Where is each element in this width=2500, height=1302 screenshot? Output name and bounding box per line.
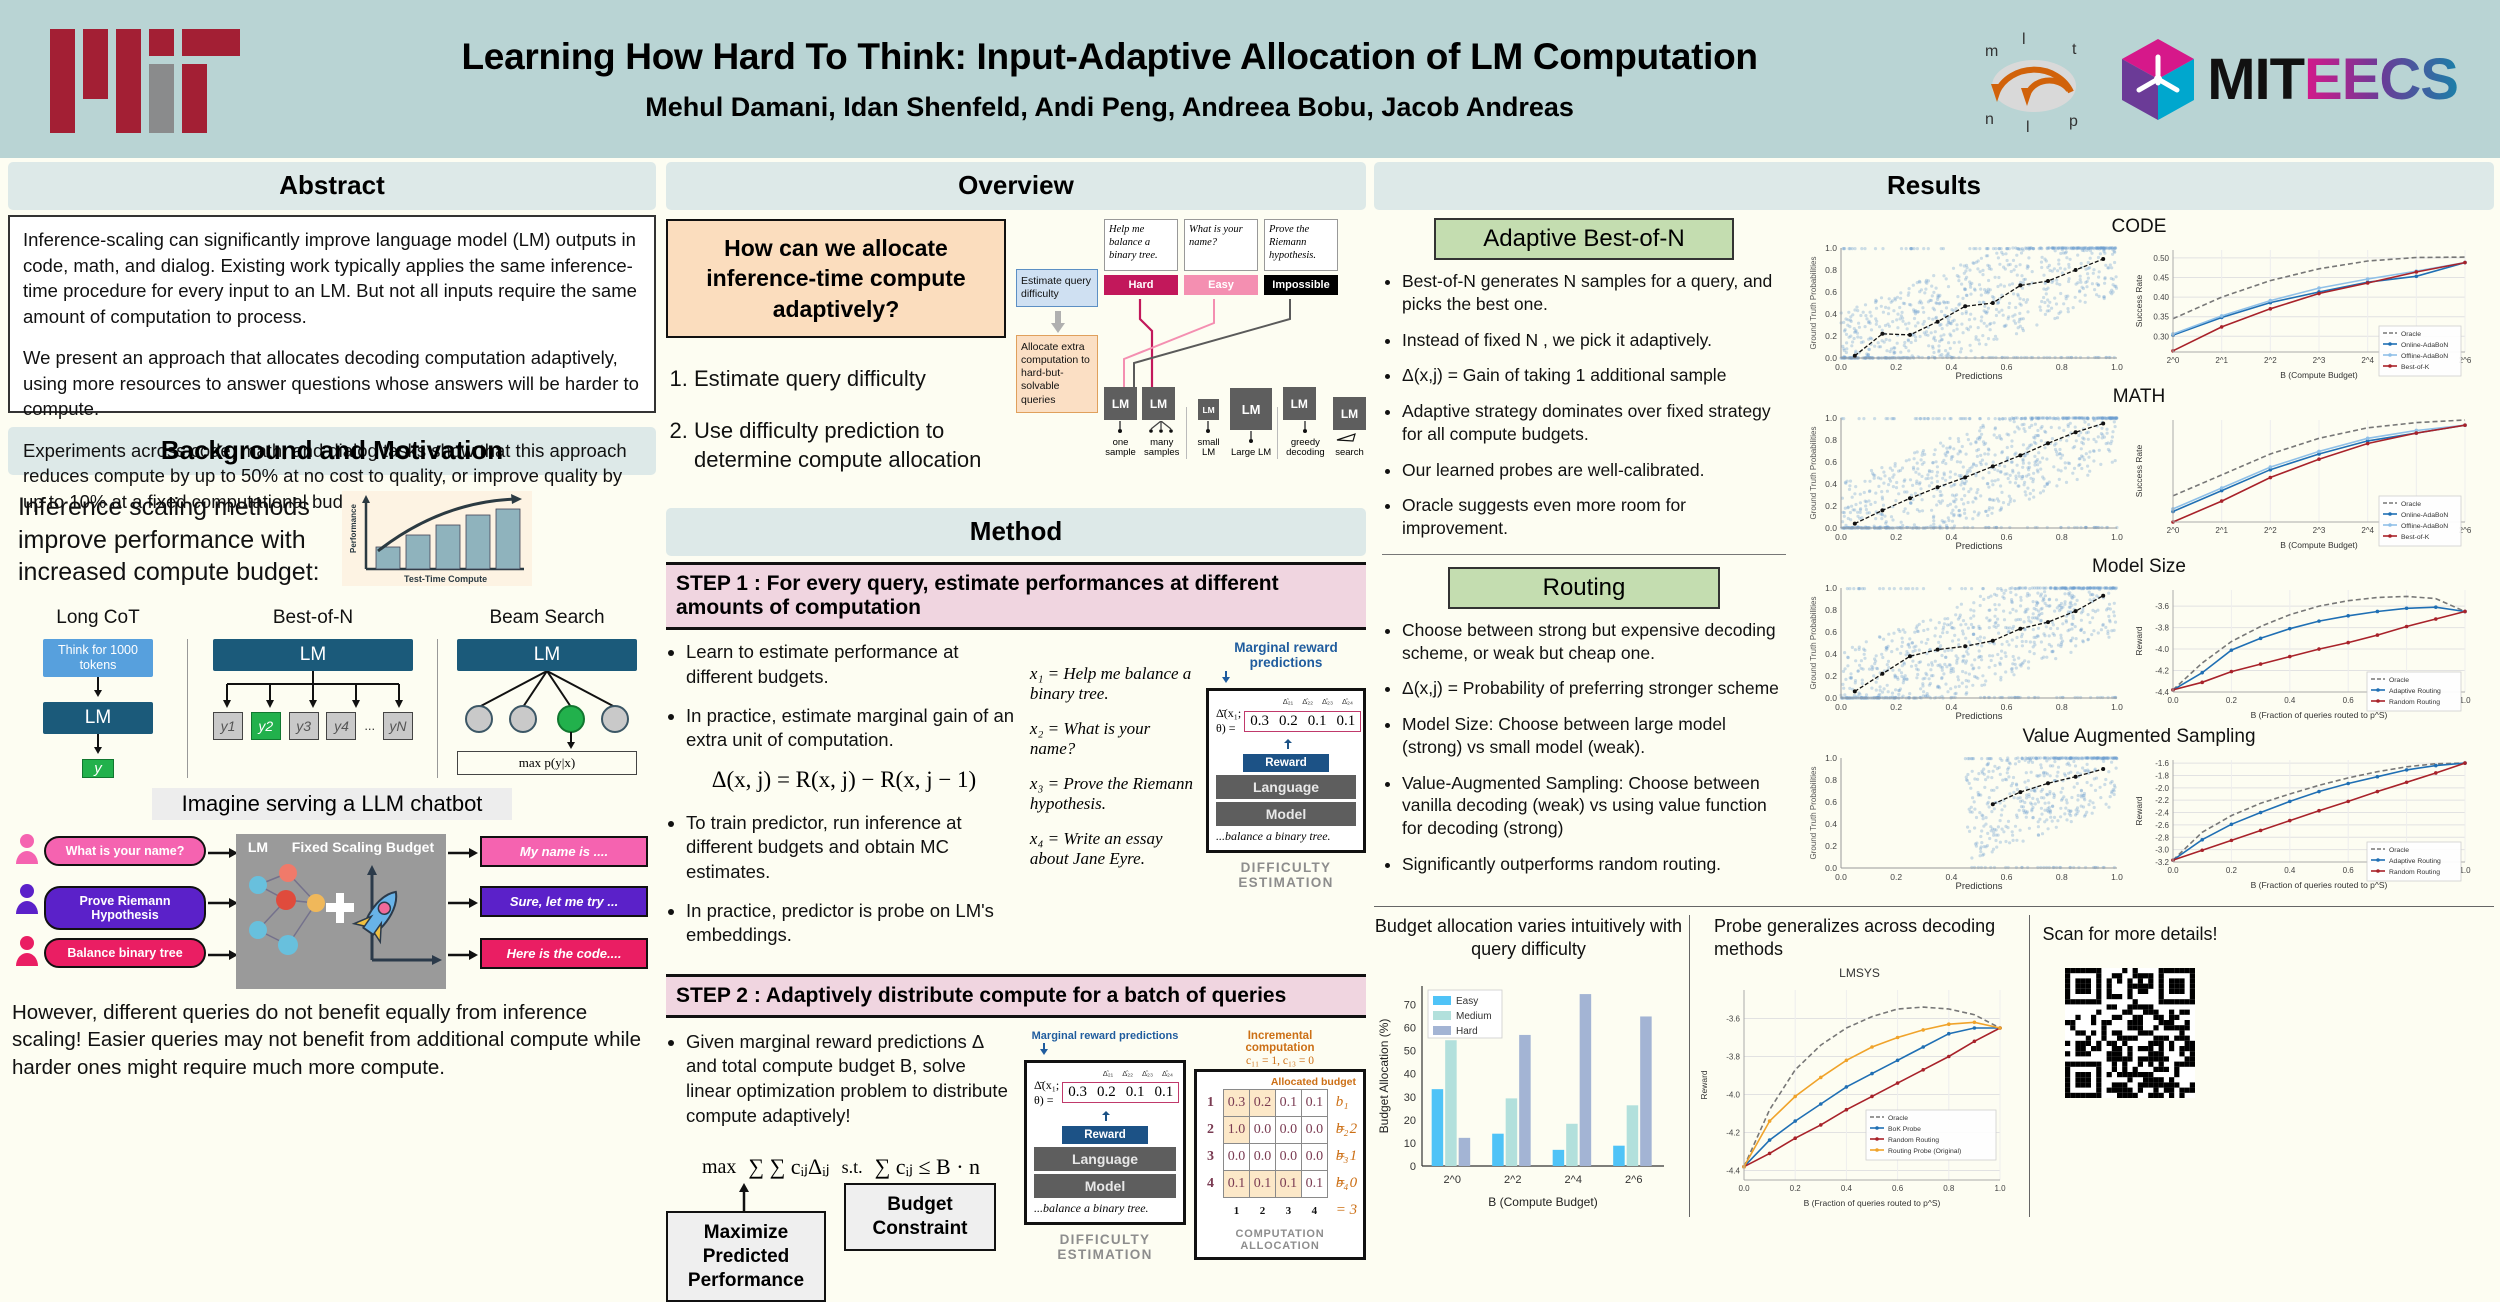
svg-text:0.6: 0.6: [1825, 287, 1837, 297]
svg-text:1.0: 1.0: [2111, 872, 2123, 882]
svg-text:B (Compute Budget): B (Compute Budget): [2280, 540, 2358, 550]
diagram-lm-row: LM one sample LM many samples LM small L…: [1104, 387, 1366, 459]
lmsys-chart-title: LMSYS: [1696, 966, 2023, 980]
calibration-scatter: 0.00.00.20.20.40.40.60.60.80.81.01.0Pred…: [1807, 410, 2125, 552]
adaptive-bullet-3: Δ(x,j) = Gain of taking 1 additional sam…: [1402, 364, 1786, 387]
alloc-row-label-4: 4: [1202, 1170, 1224, 1197]
svg-text:-2.4: -2.4: [2155, 809, 2169, 818]
svg-text:Random Routing: Random Routing: [2389, 869, 2440, 876]
svg-text:0.6: 0.6: [1825, 627, 1837, 637]
svg-text:0.6: 0.6: [1825, 457, 1837, 467]
diagram-routing-lines: [1104, 297, 1344, 389]
step2-optimization-formula: max ∑ ∑ cᵢⱼΔᵢⱼ s.t. ∑ cᵢⱼ ≤ B · n: [666, 1154, 1016, 1180]
svg-text:2^2: 2^2: [1504, 1174, 1521, 1186]
computation-allocation-panel: Incremental computation c₁₁ = 1, c₁₃ = 0…: [1194, 1030, 1366, 1302]
svg-text:20: 20: [1404, 1115, 1416, 1127]
svg-text:0.8: 0.8: [2056, 362, 2068, 372]
svg-text:0.0: 0.0: [1835, 702, 1847, 712]
svg-text:Predictions: Predictions: [1956, 711, 2003, 722]
svg-text:-4.4: -4.4: [1726, 1167, 1740, 1176]
diagram-query-3: Prove the Riemann hypothesis.: [1264, 219, 1338, 271]
lm-box-beam-search: LM: [457, 639, 637, 671]
lm-box-best-of-n: LM: [213, 639, 413, 671]
performance-line-chart: -1.6-1.8-2.0-2.2-2.4-2.6-2.8-3.0-3.20.00…: [2131, 750, 2471, 892]
s2-delta-hdr-24: Δ̂₂₄: [1162, 1069, 1173, 1078]
table-row: 2 1.0 0.0 0.0 0.0: [1202, 1116, 1327, 1143]
svg-text:0.2: 0.2: [1790, 1184, 1802, 1193]
bon-leaf-2-selected: y2: [251, 712, 281, 740]
svg-text:Reward: Reward: [1699, 1070, 1709, 1100]
svg-text:0.8: 0.8: [1825, 435, 1837, 445]
diagram-option-large-lm: Large LM: [1230, 448, 1272, 458]
delta-val-4: 0.1: [1331, 712, 1360, 731]
s2-delta-lhs: Δ̄(x₁; θ) =: [1034, 1078, 1059, 1108]
svg-text:l: l: [2026, 119, 2030, 134]
scaling-figure: Performance Test-Time Compute: [342, 491, 532, 586]
alloc-col-label-4: 4: [1301, 1197, 1327, 1224]
mit-eecs-logo: MITEECS: [2119, 37, 2458, 122]
diagram-difficulty-impossible: Impossible: [1264, 275, 1338, 295]
method-label-best-of-n: Best-of-N: [188, 607, 438, 629]
svg-text:-3.6: -3.6: [2155, 602, 2169, 611]
performance-line-chart: 2^02^12^22^32^42^52^6B (Compute Budget)S…: [2131, 410, 2471, 552]
svg-text:1.0: 1.0: [2111, 702, 2123, 712]
table-row: 4 0.1 0.1 0.1 0.1: [1202, 1170, 1327, 1197]
svg-text:Ground Truth Probabilities: Ground Truth Probabilities: [1809, 597, 1818, 690]
alloc-cell-3-1: 0.0: [1224, 1143, 1250, 1170]
svg-text:0.35: 0.35: [2153, 313, 2169, 322]
eecs-cube-icon: [2119, 37, 2197, 122]
svg-text:0.40: 0.40: [2153, 293, 2169, 302]
svg-text:0.8: 0.8: [1943, 1184, 1955, 1193]
svg-text:m: m: [1985, 43, 1998, 60]
svg-text:2^2: 2^2: [2264, 526, 2277, 535]
alloc-cell-1-3: 0.1: [1275, 1089, 1301, 1116]
table-row: 1 2 3 4: [1202, 1197, 1327, 1224]
diagram-lm-search: LM: [1333, 397, 1366, 430]
diagram-lm-many-samples: LM: [1142, 387, 1175, 420]
svg-text:B (Compute Budget): B (Compute Budget): [1488, 1195, 1597, 1209]
svg-text:Performance: Performance: [349, 504, 358, 553]
alloc-cell-1-1: 0.3: [1224, 1089, 1250, 1116]
delta-val-3: 0.1: [1303, 712, 1332, 731]
alloc-row-label-1: 1: [1202, 1089, 1224, 1116]
svg-text:p: p: [2069, 113, 2078, 130]
chat-budget-label: Fixed Scaling Budget: [292, 839, 434, 855]
callout-maximize: Maximize Predicted Performance: [666, 1211, 826, 1302]
svg-text:-4.2: -4.2: [1726, 1129, 1740, 1138]
svg-text:0.2: 0.2: [2226, 696, 2238, 705]
delta-val-2: 0.2: [1274, 712, 1303, 731]
bon-leaf-4: y4: [326, 712, 356, 740]
formula-constraint: ∑ cᵢⱼ ≤ B · n: [875, 1154, 980, 1180]
method-beam-search: Beam Search LM max p(y|x): [438, 607, 656, 778]
formula-objective: ∑ ∑ cᵢⱼΔᵢⱼ: [748, 1154, 829, 1180]
svg-text:0.6: 0.6: [2343, 696, 2355, 705]
svg-text:l: l: [2022, 31, 2026, 48]
alloc-title-3: c₁₁ = 1, c₁₃ = 0: [1194, 1055, 1366, 1067]
diagram-query-2: What is your name?: [1184, 219, 1258, 271]
step2-bullets: Given marginal reward predictions Δ and …: [666, 1030, 1016, 1128]
diagram-option-greedy: greedy decoding: [1283, 438, 1328, 459]
svg-text:Online-AdaBoN: Online-AdaBoN: [2401, 342, 2448, 349]
svg-text:0.8: 0.8: [1825, 605, 1837, 615]
svg-text:-3.6: -3.6: [1726, 1015, 1740, 1024]
chart-group-value-augmented-sampling: Value Augmented Sampling0.00.00.20.20.40…: [1794, 726, 2484, 892]
svg-text:0.2: 0.2: [1825, 671, 1837, 681]
calibration-scatter: 0.00.00.20.20.40.40.60.60.80.81.01.0Pred…: [1807, 240, 2125, 382]
alloc-cell-4-4: 0.1: [1301, 1170, 1327, 1197]
svg-text:0.0: 0.0: [1835, 532, 1847, 542]
lm-box-long-cot: LM: [43, 702, 153, 734]
svg-text:1.0: 1.0: [1825, 753, 1837, 763]
svg-text:Oracle: Oracle: [2401, 501, 2421, 508]
bon-leaf-3: y3: [289, 712, 319, 740]
performance-line-chart: 0.300.350.400.450.502^02^12^22^32^42^52^…: [2131, 240, 2471, 382]
chat-network-rocket-icon: [236, 855, 446, 980]
title-block: Learning How Hard To Think: Input-Adapti…: [250, 36, 1969, 123]
user-avatar-2: [16, 884, 38, 914]
svg-text:0.2: 0.2: [1890, 872, 1902, 882]
diagram-side-box-estimate: Estimate query difficulty: [1016, 269, 1098, 307]
s2-delta-val-1: 0.3: [1063, 1083, 1092, 1102]
table-row: 3 0.0 0.0 0.0 0.0: [1202, 1143, 1327, 1170]
svg-text:2^0: 2^0: [1444, 1174, 1461, 1186]
abstract-paragraph-2: We present an approach that allocates de…: [23, 345, 641, 422]
svg-text:Predictions: Predictions: [1956, 541, 2003, 552]
step1-bullet-4: In practice, predictor is probe on LM's …: [686, 899, 1022, 948]
svg-text:Routing Probe (Original): Routing Probe (Original): [1888, 1148, 1961, 1155]
eecs-suffix-text: EECS: [2304, 47, 2458, 112]
delta-hdr-24: Δ̂₂₄: [1342, 697, 1353, 706]
step2-mrp-title: Marginal reward predictions: [1024, 1030, 1186, 1042]
improbable-ai-logo: m l t n l p: [1969, 24, 2099, 134]
svg-text:0.8: 0.8: [2056, 532, 2068, 542]
svg-text:2^2: 2^2: [2264, 356, 2277, 365]
diagram-difficulty-hard: Hard: [1104, 275, 1178, 295]
user-avatar-3: [16, 936, 38, 966]
svg-text:70: 70: [1404, 999, 1416, 1011]
svg-text:0.0: 0.0: [1825, 693, 1837, 703]
svg-text:Offline-AdaBoN: Offline-AdaBoN: [2401, 353, 2448, 360]
alloc-cell-2-2: 0.0: [1250, 1116, 1276, 1143]
svg-text:0.6: 0.6: [1892, 1184, 1904, 1193]
diagram-option-one-sample: one sample: [1104, 438, 1137, 459]
routing-bullet-2: Δ(x,j) = Probability of preferring stron…: [1402, 677, 1786, 700]
svg-text:-3.0: -3.0: [2155, 846, 2169, 855]
svg-text:2^1: 2^1: [2215, 356, 2228, 365]
svg-text:0.0: 0.0: [1825, 353, 1837, 363]
svg-text:0.4: 0.4: [1825, 309, 1837, 319]
svg-text:BoK Probe: BoK Probe: [1888, 1126, 1921, 1133]
svg-text:0.6: 0.6: [1825, 797, 1837, 807]
svg-text:0.8: 0.8: [1825, 265, 1837, 275]
svg-text:Budget Allocation (%): Budget Allocation (%): [1377, 1019, 1391, 1134]
s2-reward-bar: Reward: [1062, 1126, 1148, 1144]
svg-text:0: 0: [1410, 1161, 1416, 1173]
delta-hdr-21: Δ̂₂₁: [1283, 697, 1293, 706]
diagram-lm-one-sample: LM: [1104, 387, 1137, 420]
method-best-of-n: Best-of-N LM: [188, 607, 438, 778]
author-list: Mehul Damani, Idan Shenfeld, Andi Peng, …: [270, 92, 1949, 123]
alloc-cell-1-4: 0.1: [1301, 1089, 1327, 1116]
s2-delta-val-4: 0.1: [1149, 1083, 1178, 1102]
eecs-mit-text: MIT: [2207, 47, 2304, 112]
svg-text:B (Fraction of queries routed: B (Fraction of queries routed to p^S): [1804, 1198, 1941, 1208]
step1-delta-headers: Δ̂₂₁ Δ̂₂₂ Δ̂₂₃ Δ̂₂₄: [1216, 697, 1356, 706]
closing-text: However, different queries do not benefi…: [8, 999, 656, 1082]
overview-step-2: Use difficulty prediction to determine c…: [694, 416, 1006, 475]
alloc-budget-title-1: Allocated: [1271, 1076, 1318, 1088]
s2-model-bar: Model: [1034, 1174, 1176, 1198]
svg-text:0.4: 0.4: [2284, 696, 2296, 705]
method-long-cot: Long CoT Think for 1000 tokens LM y: [8, 607, 188, 778]
inference-methods-row: Long CoT Think for 1000 tokens LM y Best…: [8, 607, 656, 778]
svg-text:2^1: 2^1: [2215, 526, 2228, 535]
svg-text:-4.2: -4.2: [2155, 667, 2169, 676]
chat-lm-block: LM Fixed Scaling Budget: [236, 834, 446, 989]
step1-reward-bar: Reward: [1243, 754, 1329, 772]
svg-text:n: n: [1985, 111, 1994, 128]
output-y-long-cot: y: [82, 759, 114, 778]
svg-text:-2.2: -2.2: [2155, 796, 2169, 805]
s2-query-text: ...balance a binary tree.: [1034, 1201, 1176, 1216]
alloc-col-label-1: 1: [1224, 1197, 1250, 1224]
column-left: Abstract Inference-scaling can significa…: [8, 162, 656, 1082]
delta-val-1: 0.3: [1245, 712, 1274, 731]
svg-text:0.8: 0.8: [2056, 872, 2068, 882]
abstract-panel: Inference-scaling can significantly impr…: [8, 215, 656, 413]
svg-text:-2.0: -2.0: [2155, 784, 2169, 793]
table-row: 1 0.3 0.2 0.1 0.1: [1202, 1089, 1327, 1116]
diagram-lm-greedy: LM: [1283, 387, 1316, 420]
svg-text:B (Fraction of queries routed: B (Fraction of queries routed to p^S): [2251, 710, 2388, 720]
scan-title: Scan for more details!: [2030, 923, 2230, 946]
svg-text:30: 30: [1404, 1092, 1416, 1104]
svg-text:2^3: 2^3: [2313, 356, 2326, 365]
alloc-cell-2-1: 1.0: [1224, 1116, 1250, 1143]
results-text-side: Adaptive Best-of-N Best-of-N generates N…: [1374, 216, 1794, 896]
diagram-lm-large: LM: [1230, 388, 1272, 430]
svg-text:0.4: 0.4: [1825, 479, 1837, 489]
svg-text:Oracle: Oracle: [2389, 677, 2409, 684]
svg-text:Success Rate: Success Rate: [2134, 275, 2144, 328]
svg-text:1.0: 1.0: [1825, 243, 1837, 253]
formula-max: max: [702, 1156, 736, 1179]
alloc-title-1: Incremental: [1194, 1030, 1366, 1043]
step1-query-x3: x₃ = Prove the Riemann hypothesis.: [1030, 774, 1198, 814]
s2-delta-val-3: 0.1: [1121, 1083, 1150, 1102]
alloc-cell-3-4: 0.0: [1301, 1143, 1327, 1170]
svg-text:2^3: 2^3: [2313, 526, 2326, 535]
svg-text:Random Routing: Random Routing: [1888, 1137, 1939, 1144]
step1-delta-lhs: Δ̄(x₁; θ) =: [1216, 706, 1241, 736]
poster-header: Learning How Hard To Think: Input-Adapti…: [0, 0, 2500, 158]
alloc-budget-title-2: budget: [1321, 1076, 1356, 1088]
svg-text:-1.8: -1.8: [2155, 771, 2169, 780]
chat-response-3: Here is the code....: [480, 938, 648, 969]
chat-response-2: Sure, let me try ...: [480, 886, 648, 917]
step2-de-panel: Δ̂₂₁ Δ̂₂₂ Δ̂₂₃ Δ̂₂₄ Δ̄(x₁; θ) = 0.3 0.2 …: [1024, 1060, 1186, 1225]
marginal-gain-equation: Δ(x, j) = R(x, j) − R(x, j − 1): [666, 767, 1022, 793]
svg-text:Oracle: Oracle: [2401, 331, 2421, 338]
alloc-title-2: computation: [1194, 1042, 1366, 1055]
overview-steps-list: Estimate query difficulty Use difficulty…: [666, 364, 1006, 474]
svg-text:2^6: 2^6: [1625, 1174, 1642, 1186]
performance-line-chart: -3.6-3.8-4.0-4.2-4.40.00.20.40.60.81.0B …: [2131, 580, 2471, 722]
svg-text:Reward: Reward: [2134, 626, 2144, 656]
step1-query-text: ...balance a binary tree.: [1216, 829, 1356, 844]
chat-lm-label: LM: [248, 839, 268, 855]
svg-text:Random Routing: Random Routing: [2389, 699, 2440, 706]
s2-delta-hdr-22: Δ̂₂₂: [1122, 1069, 1133, 1078]
svg-text:2^0: 2^0: [2167, 526, 2180, 535]
svg-text:0.30: 0.30: [2153, 332, 2169, 341]
overview-heading: Overview: [666, 162, 1366, 210]
svg-text:0.50: 0.50: [2153, 254, 2169, 263]
alloc-col-label-2: 2: [1250, 1197, 1276, 1224]
research-question-box: How can we allocate inference-time compu…: [666, 219, 1006, 338]
diagram-lm-small: LM: [1198, 399, 1219, 420]
svg-text:0.0: 0.0: [1825, 523, 1837, 533]
step1-bullets: Learn to estimate performance at differe…: [666, 640, 1022, 752]
background-intro-text: Inference scaling methods improve perfor…: [18, 491, 328, 589]
delta-hdr-23: Δ̂₂₃: [1322, 697, 1333, 706]
svg-text:0.0: 0.0: [1738, 1184, 1750, 1193]
diagram-query-1: Help me balance a binary tree.: [1104, 219, 1178, 271]
overview-step-1: Estimate query difficulty: [694, 364, 1006, 393]
alloc-row-label-3: 3: [1202, 1143, 1224, 1170]
alloc-cell-4-1: 0.1: [1224, 1170, 1250, 1197]
svg-text:1.0: 1.0: [2111, 532, 2123, 542]
svg-text:-4.0: -4.0: [2155, 645, 2169, 654]
svg-text:60: 60: [1404, 1023, 1416, 1035]
s2-delta-val-2: 0.2: [1092, 1083, 1121, 1102]
svg-text:40: 40: [1404, 1069, 1416, 1081]
alloc-cell-4-2: 0.1: [1250, 1170, 1276, 1197]
method-heading: Method: [666, 508, 1366, 556]
step2-difficulty-estimation: Marginal reward predictions Δ̂₂₁ Δ̂₂₂ Δ̂…: [1024, 1030, 1186, 1302]
routing-bullet-5: Significantly outperforms random routing…: [1402, 853, 1786, 876]
svg-text:Predictions: Predictions: [1956, 881, 2003, 892]
budget-allocation-title: Budget allocation varies intuitively wit…: [1374, 915, 1683, 960]
calibration-scatter: 0.00.00.20.20.40.40.60.60.80.81.01.0Pred…: [1807, 750, 2125, 892]
svg-text:Reward: Reward: [2134, 796, 2144, 826]
alloc-cell-3-2: 0.0: [1250, 1143, 1276, 1170]
svg-text:B (Compute Budget): B (Compute Budget): [2280, 370, 2358, 380]
results-heading: Results: [1374, 162, 2494, 210]
chart-title: MATH: [1794, 386, 2484, 408]
svg-text:50: 50: [1404, 1046, 1416, 1058]
svg-text:Ground Truth Probabilities: Ground Truth Probabilities: [1809, 427, 1818, 520]
think-tokens-box: Think for 1000 tokens: [43, 639, 153, 677]
alloc-cell-1-2: 0.2: [1250, 1089, 1276, 1116]
bon-ellipsis: ...: [364, 718, 375, 733]
s2-delta-values: 0.3 0.2 0.1 0.1: [1062, 1082, 1179, 1103]
alloc-cell-2-4: 0.0: [1301, 1116, 1327, 1143]
qr-code[interactable]: [2065, 968, 2195, 1098]
svg-text:0.2: 0.2: [2226, 866, 2238, 875]
alloc-cell-2-3: 0.0: [1275, 1116, 1301, 1143]
calibration-scatter: 0.00.00.20.20.40.40.60.60.80.81.01.0Pred…: [1807, 580, 2125, 722]
beam-formula: max p(y|x): [457, 751, 637, 775]
routing-bullet-3: Model Size: Choose between large model (…: [1402, 713, 1786, 759]
step2-banner: STEP 2 : Adaptively distribute compute f…: [666, 974, 1366, 1018]
chatbot-heading: Imagine serving a LLM chatbot: [152, 788, 512, 820]
svg-text:Test-Time Compute: Test-Time Compute: [404, 574, 487, 584]
svg-text:0.0: 0.0: [1835, 362, 1847, 372]
allocation-matrix: 1 0.3 0.2 0.1 0.1 2 1.0 0.0 0.0 0.0: [1202, 1089, 1328, 1225]
svg-text:Offline-AdaBoN: Offline-AdaBoN: [2401, 523, 2448, 530]
svg-text:0.8: 0.8: [1825, 775, 1837, 785]
svg-text:0.4: 0.4: [1825, 819, 1837, 829]
alloc-cell-4-3: 0.1: [1275, 1170, 1301, 1197]
step1-bullet-2: In practice, estimate marginal gain of a…: [686, 704, 1022, 753]
svg-text:0.4: 0.4: [2284, 866, 2296, 875]
eecs-wordmark: MITEECS: [2207, 46, 2458, 113]
step1-query-x1: x₁ = Help me balance a binary tree.: [1030, 664, 1198, 704]
svg-text:Hard: Hard: [1456, 1026, 1478, 1037]
callout-budget: Budget Constraint: [844, 1183, 996, 1251]
qr-block: Scan for more details!: [2030, 915, 2230, 1217]
step2-bullet-1: Given marginal reward predictions Δ and …: [686, 1030, 1016, 1128]
step1-difficulty-estimation: Marginal reward predictions Δ̂₂₁ Δ̂₂₂ Δ̂…: [1206, 640, 1366, 961]
chat-query-1: What is your name?: [44, 836, 206, 866]
chart-group-model-size: Model Size0.00.00.20.20.40.40.60.60.80.8…: [1794, 556, 2484, 722]
svg-text:Adaptive Routing: Adaptive Routing: [2389, 858, 2441, 865]
svg-text:t: t: [2072, 41, 2077, 58]
routing-bullet-4: Value-Augmented Sampling: Choose between…: [1402, 772, 1786, 840]
svg-text:0.2: 0.2: [1825, 841, 1837, 851]
s2-de-caption: DIFFICULTY ESTIMATION: [1024, 1232, 1186, 1262]
step1-bullet-3: To train predictor, run inference at dif…: [686, 811, 1022, 885]
svg-text:Medium: Medium: [1456, 1011, 1492, 1022]
alloc-cell-3-3: 0.0: [1275, 1143, 1301, 1170]
svg-text:B (Fraction of queries routed: B (Fraction of queries routed to p^S): [2251, 880, 2388, 890]
mit-logo: [50, 24, 250, 134]
svg-text:1.0: 1.0: [1825, 413, 1837, 423]
step1-language-bar: Language: [1216, 775, 1356, 799]
svg-text:1.0: 1.0: [2111, 362, 2123, 372]
adaptive-bullet-4: Adaptive strategy dominates over fixed s…: [1402, 400, 1786, 446]
s2-delta-hdr-23: Δ̂₂₃: [1142, 1069, 1153, 1078]
svg-text:0.2: 0.2: [1825, 331, 1837, 341]
lmsys-line-chart: -3.6-3.8-4.0-4.2-4.40.00.20.40.60.81.0B …: [1696, 980, 2006, 1210]
svg-text:0.0: 0.0: [1825, 863, 1837, 873]
svg-text:0.0: 0.0: [2167, 696, 2179, 705]
delta-hdr-22: Δ̂₂₂: [1302, 697, 1313, 706]
svg-text:0.4: 0.4: [1841, 1184, 1853, 1193]
svg-text:-3.8: -3.8: [1726, 1053, 1740, 1062]
step1-de-panel: Δ̂₂₁ Δ̂₂₂ Δ̂₂₃ Δ̂₂₄ Δ̄(x₁; θ) = 0.3 0.2 …: [1206, 688, 1366, 853]
chart-group-math: MATH0.00.00.20.20.40.40.60.60.80.81.01.0…: [1794, 386, 2484, 552]
svg-text:2^4: 2^4: [1565, 1174, 1582, 1186]
svg-text:Ground Truth Probabilities: Ground Truth Probabilities: [1809, 767, 1818, 860]
chart-title: Model Size: [1794, 556, 2484, 578]
svg-text:10: 10: [1404, 1138, 1416, 1150]
chart-title: CODE: [1794, 216, 2484, 238]
adaptive-bullet-5: Our learned probes are well-calibrated.: [1402, 459, 1786, 482]
step1-query-x4: x₄ = Write an essay about Jane Eyre.: [1030, 829, 1198, 869]
svg-text:0.2: 0.2: [1825, 501, 1837, 511]
alloc-budget-1: b₁ = 2: [1328, 1089, 1358, 1116]
chart-title: Value Augmented Sampling: [1794, 726, 2484, 748]
page-title: Learning How Hard To Think: Input-Adapti…: [270, 36, 1949, 78]
step1-delta-values: 0.3 0.2 0.1 0.1: [1244, 711, 1361, 732]
probe-generalization-title: Probe generalizes across decoding method…: [1696, 915, 2023, 960]
method-label-beam-search: Beam Search: [438, 607, 656, 629]
results-charts-side: CODE0.00.00.20.20.40.40.60.60.80.81.01.0…: [1794, 216, 2484, 896]
